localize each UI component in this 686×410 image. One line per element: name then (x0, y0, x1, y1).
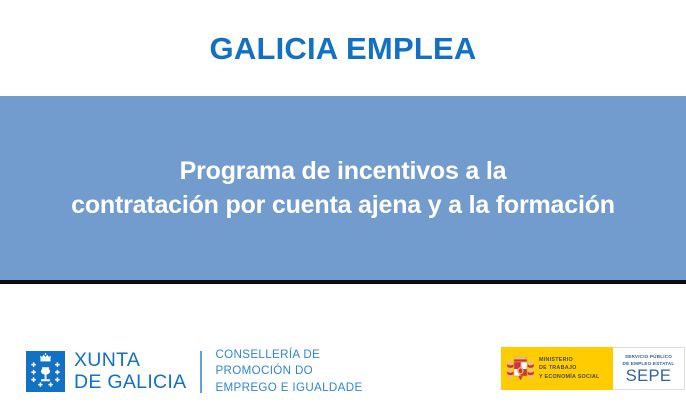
page-title: GALICIA EMPLEA (210, 33, 477, 64)
sepe-logo: SERVICIO PÚBLICO DE EMPLEO ESTATAL SEPE (613, 347, 685, 390)
government-logos: MINISTERIO DE TRABAJO Y ECONOMÍA SOCIAL … (501, 347, 685, 390)
banner-text: Programa de incentivos a la contratación… (57, 154, 629, 222)
galicia-coat-of-arms-icon (26, 351, 65, 392)
xunta-wordmark-line-1: XUNTA (74, 350, 186, 372)
footer-logos: XUNTA DE GALICIA CONSELLERÍA DE PROMOCIÓ… (0, 288, 686, 410)
ministerio-line-2: DE TRABAJO (539, 364, 600, 372)
program-banner: Programa de incentivos a la contratación… (0, 96, 686, 284)
logo-divider (200, 351, 202, 393)
conselleria-line-3: EMPREGO E IGUALDADE (215, 380, 362, 396)
banner-line-2: contratación por cuenta ajena y a la for… (71, 188, 615, 222)
sepe-subtitle: SERVICIO PÚBLICO DE EMPLEO ESTATAL (623, 354, 675, 367)
conselleria-line-1: CONSELLERÍA DE (215, 347, 362, 363)
conselleria-wordmark: CONSELLERÍA DE PROMOCIÓN DO EMPREGO E IG… (215, 347, 362, 396)
xunta-wordmark: XUNTA DE GALICIA (74, 350, 186, 394)
ministerio-logo: MINISTERIO DE TRABAJO Y ECONOMÍA SOCIAL (501, 347, 613, 390)
banner-line-1: Programa de incentivos a la (71, 154, 615, 188)
xunta-de-galicia-logo: XUNTA DE GALICIA CONSELLERÍA DE PROMOCIÓ… (26, 347, 363, 396)
slide-root: GALICIA EMPLEA Programa de incentivos a … (0, 0, 686, 410)
conselleria-line-2: PROMOCIÓN DO (215, 363, 362, 379)
xunta-wordmark-line-2: DE GALICIA (74, 372, 186, 394)
ministerio-wordmark: MINISTERIO DE TRABAJO Y ECONOMÍA SOCIAL (539, 356, 600, 381)
sepe-acronym: SEPE (626, 368, 672, 385)
spain-coat-of-arms-icon (507, 352, 534, 385)
sepe-subtitle-line-2: DE EMPLEO ESTATAL (623, 361, 675, 368)
ministerio-line-3: Y ECONOMÍA SOCIAL (539, 373, 600, 381)
title-area: GALICIA EMPLEA (0, 0, 686, 96)
sepe-subtitle-line-1: SERVICIO PÚBLICO (623, 354, 675, 361)
ministerio-line-1: MINISTERIO (539, 356, 600, 364)
